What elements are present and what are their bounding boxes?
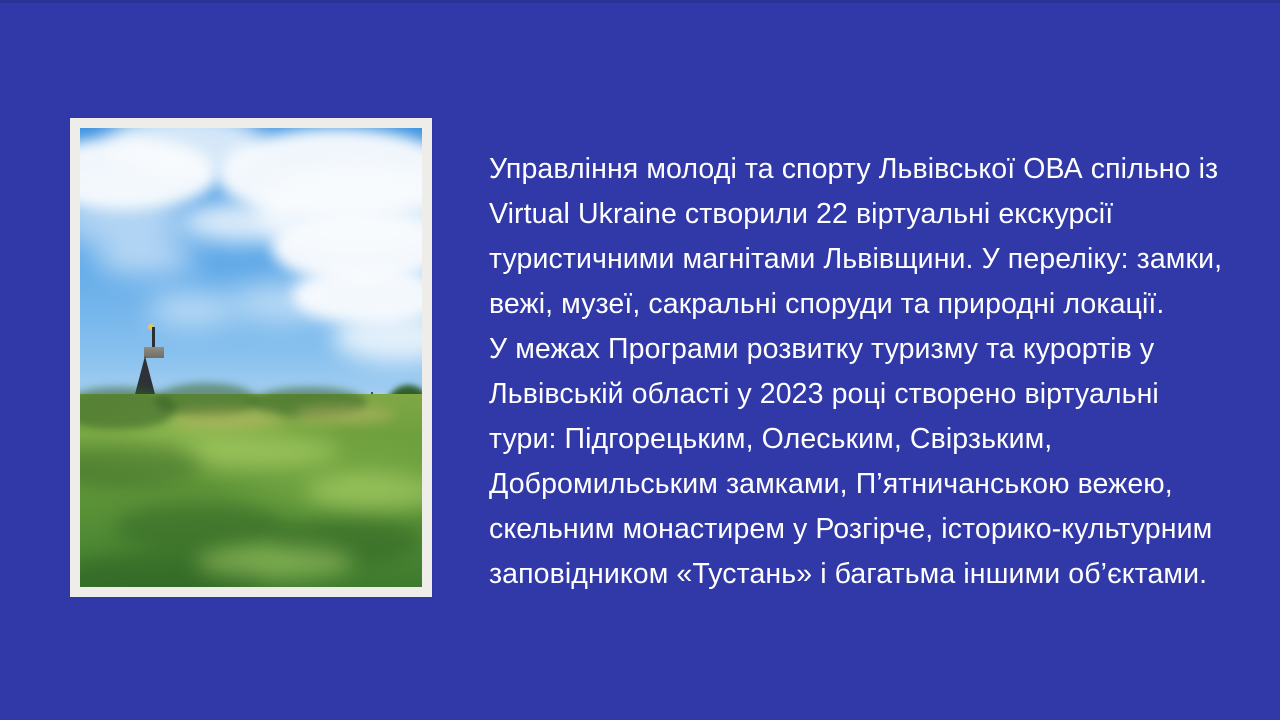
paragraph-2: У межах Програми розвитку туризму та кур… bbox=[489, 327, 1224, 597]
grass-foreground bbox=[80, 394, 422, 587]
sunlit-patch bbox=[196, 545, 353, 580]
cloud bbox=[183, 201, 299, 242]
sunlit-patch bbox=[183, 437, 340, 468]
photo-frame bbox=[70, 118, 432, 597]
pidhirtsi-castle-photo bbox=[80, 128, 422, 587]
shadow-patch bbox=[80, 444, 203, 486]
dry-grass-patch bbox=[292, 406, 395, 423]
sunlit-patch bbox=[306, 475, 422, 510]
cloud bbox=[230, 284, 333, 321]
spire-needle bbox=[152, 327, 155, 347]
cloud bbox=[94, 238, 197, 275]
slide-body-text: Управління молоді та спорту Львівської О… bbox=[489, 147, 1224, 597]
presentation-slide: Управління молоді та спорту Львівської О… bbox=[0, 0, 1280, 720]
dry-grass-patch bbox=[169, 410, 285, 429]
top-edge-band bbox=[0, 0, 1280, 3]
paragraph-1: Управління молоді та спорту Львівської О… bbox=[489, 147, 1224, 327]
